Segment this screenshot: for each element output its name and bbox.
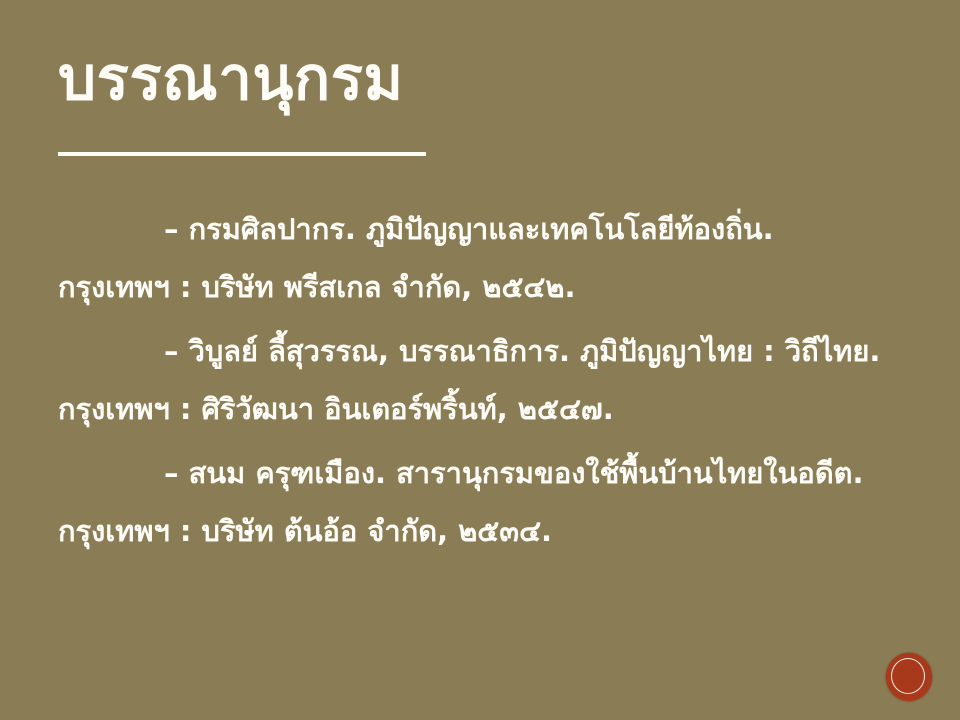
title-divider xyxy=(58,152,426,156)
slide-canvas: บรรณานุกรม – กรมศิลปากร. ภูมิปัญญาและเทค… xyxy=(0,0,960,720)
title-block: บรรณานุกรม xyxy=(58,48,898,111)
list-item: – สนม ครุฑเมือง. สารานุกรมของใช้พื้นบ้าน… xyxy=(0,444,960,560)
bibliography-entry-continuation-line: กรุงเทพฯ : บริษัท พรีสเกล จำกัด, ๒๕๔๒. xyxy=(0,258,960,316)
bibliography-entry-first-line: – วิบูลย์ ลี้สุวรรณ, บรรณาธิการ. ภูมิปัญ… xyxy=(0,322,960,380)
bibliography-list: – กรมศิลปากร. ภูมิปัญญาและเทคโนโลยีท้องถ… xyxy=(0,200,960,566)
list-item: – วิบูลย์ ลี้สุวรรณ, บรรณาธิการ. ภูมิปัญ… xyxy=(0,322,960,438)
bibliography-entry-first-line: – กรมศิลปากร. ภูมิปัญญาและเทคโนโลยีท้องถ… xyxy=(0,200,960,258)
bibliography-entry-continuation-line: กรุงเทพฯ : บริษัท ต้นอ้อ จำกัด, ๒๕๓๔. xyxy=(0,502,960,560)
list-item: – กรมศิลปากร. ภูมิปัญญาและเทคโนโลยีท้องถ… xyxy=(0,200,960,316)
page-title: บรรณานุกรม xyxy=(58,48,898,111)
circle-decoration-icon xyxy=(886,653,932,701)
bibliography-entry-continuation-line: กรุงเทพฯ : ศิริวัฒนา อินเตอร์พริ้นท์, ๒๕… xyxy=(0,380,960,438)
circle-ring xyxy=(891,658,925,694)
bibliography-entry-first-line: – สนม ครุฑเมือง. สารานุกรมของใช้พื้นบ้าน… xyxy=(0,444,960,502)
